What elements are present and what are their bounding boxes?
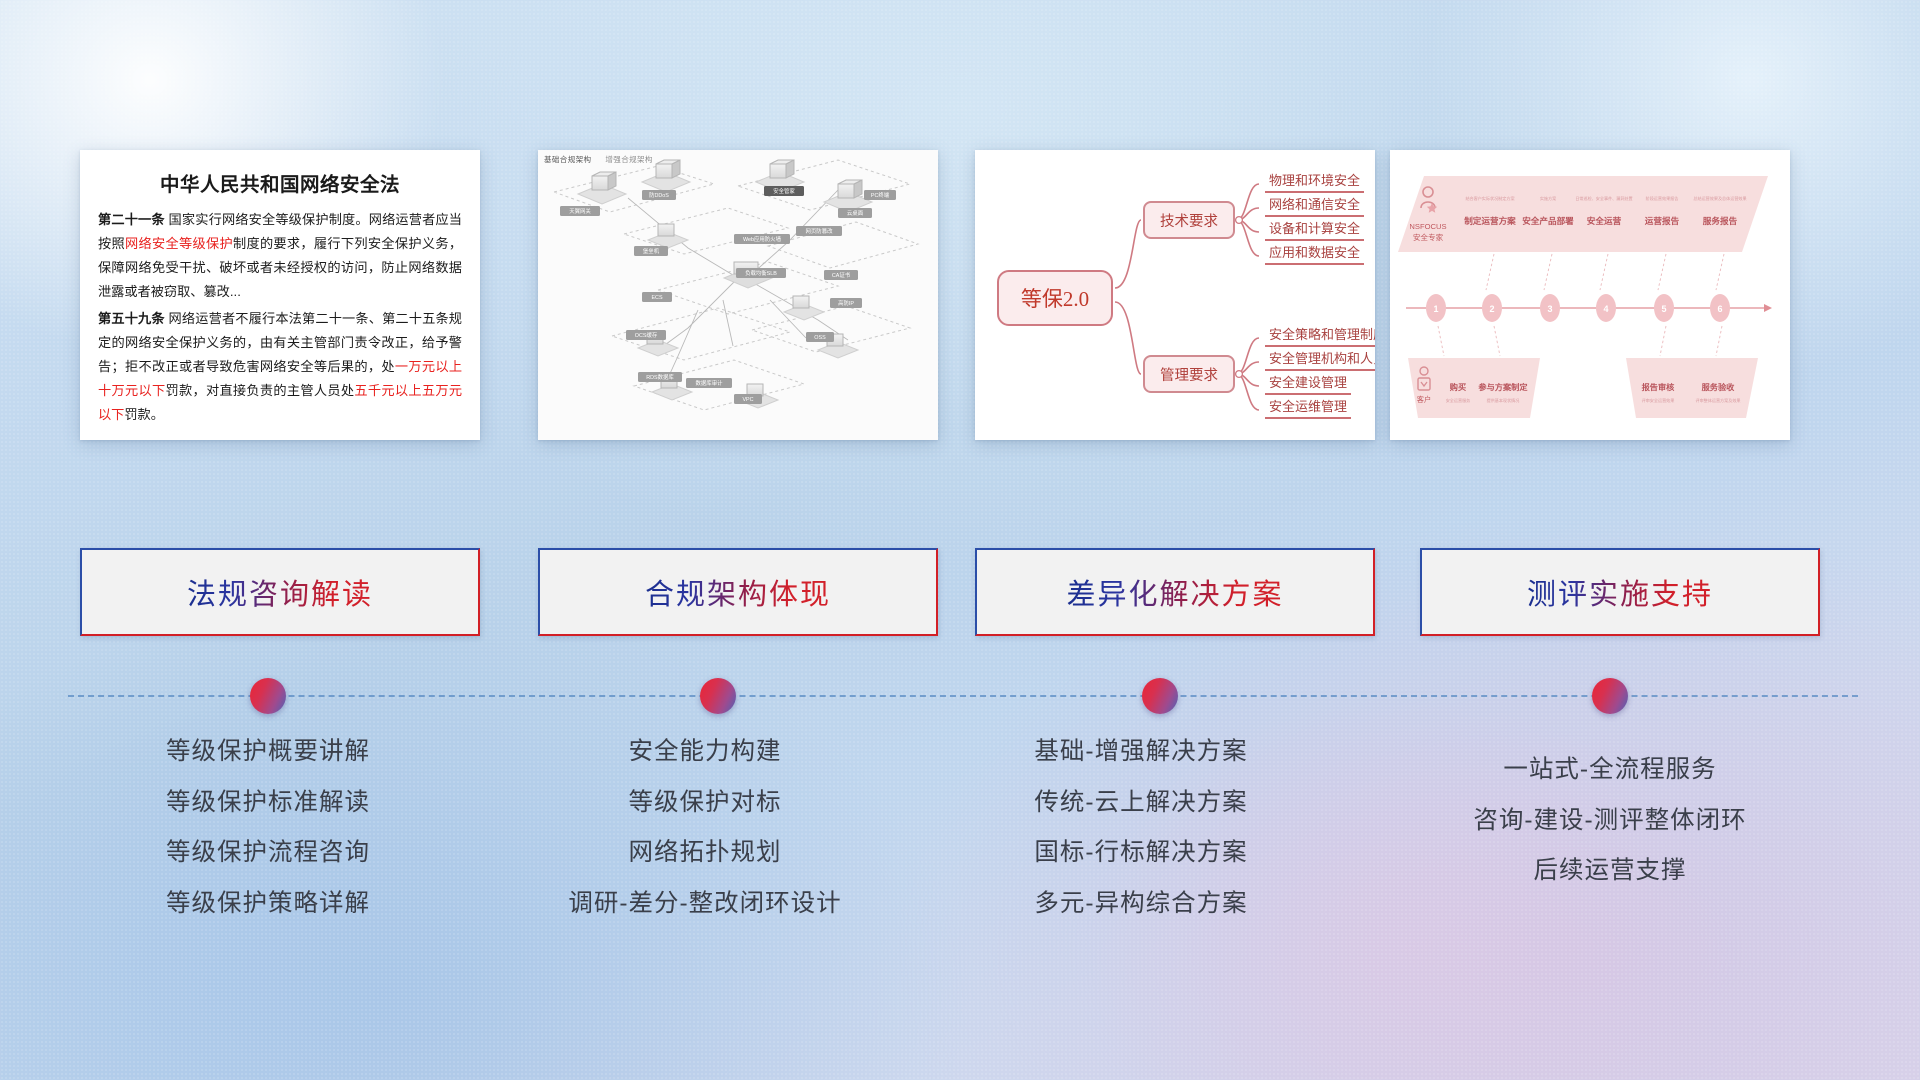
svg-text:数据库审计: 数据库审计 (696, 379, 724, 387)
svg-text:RDS数据库: RDS数据库 (646, 373, 674, 381)
svg-text:OCS缓存: OCS缓存 (635, 331, 658, 339)
label-text-1: 法规咨询解读 (187, 571, 373, 613)
card-service-flow[interactable]: NSFOCUS 安全专家 结合客户实际状况制定方案 实施方案 日常巡检、安全事件… (1390, 150, 1790, 440)
flow-top-sub-5: 总结运营效果及总体运营效果 (1693, 195, 1746, 201)
law-article-number-2: 第五十九条 (98, 311, 165, 326)
law-paragraph-2: 第五十九条 网络运营者不履行本法第二十一条、第二十五条规定的网络安全保护义务的，… (98, 307, 462, 427)
law-article-number-1: 第二十一条 (98, 212, 165, 227)
flow-top-sub-4: 阶段运营效果报告 (1646, 195, 1679, 201)
label-text-4: 测评实施支持 (1527, 571, 1713, 613)
timeline-dot-3[interactable] (1142, 678, 1178, 714)
detail-column-4: 一站式-全流程服务 咨询-建设-测评整体闭环 后续运营支撑 (1395, 758, 1825, 910)
svg-text:4: 4 (1603, 304, 1608, 314)
svg-text:负载均衡SLB: 负载均衡SLB (745, 269, 777, 277)
cards-row: 中华人民共和国网络安全法 第二十一条 国家实行网络安全等级保护制度。网络运营者应… (0, 150, 1920, 445)
svg-text:网页防篡改: 网页防篡改 (806, 227, 834, 235)
mindmap-root: 等保2.0 (997, 270, 1113, 326)
timeline-dashed-line (68, 695, 1858, 697)
mindmap-collapse-icon-tech (1236, 217, 1243, 224)
list-item: 等级保护标准解读 (53, 791, 483, 816)
list-item: 一站式-全流程服务 (1395, 758, 1825, 783)
service-flow-diagram: NSFOCUS 安全专家 结合客户实际状况制定方案 实施方案 日常巡检、安全事件… (1390, 150, 1790, 440)
mindmap-leaf-t1: 物理和环境安全 (1265, 170, 1364, 193)
flow-top-title-4: 运营报告 (1645, 215, 1680, 226)
list-item: 传统-云上解决方案 (926, 791, 1356, 816)
list-item: 网络拓扑规划 (490, 841, 920, 866)
label-box-regulation-consulting[interactable]: 法规咨询解读 (80, 548, 480, 636)
list-item: 基础-增强解决方案 (926, 740, 1356, 765)
law-title: 中华人民共和国网络安全法 (98, 168, 462, 197)
mindmap-leaf-t3: 设备和计算安全 (1265, 218, 1364, 241)
svg-text:2: 2 (1489, 304, 1494, 314)
flow-top-title-5: 服务报告 (1703, 215, 1738, 226)
detail-column-3: 基础-增强解决方案 传统-云上解决方案 国标-行标解决方案 多元-异构综合方案 (926, 740, 1356, 942)
list-item: 等级保护概要讲解 (53, 740, 483, 765)
mindmap-leaf-m4: 安全运维管理 (1265, 396, 1351, 419)
flow-top-title-2: 安全产品部署 (1522, 215, 1574, 226)
list-item: 等级保护流程咨询 (53, 841, 483, 866)
flow-bottom-right-title-1: 报告审核 (1642, 382, 1676, 392)
law-paragraph-1: 第二十一条 国家实行网络安全等级保护制度。网络运营者应当按照网络安全等级保护制度… (98, 208, 462, 304)
mindmap-leaf-t2: 网络和通信安全 (1265, 194, 1364, 217)
list-item: 后续运营支撑 (1395, 859, 1825, 884)
list-item: 调研-差分-整改闭环设计 (490, 892, 920, 917)
flow-bottom-left-title-2: 参与方案制定 (1478, 382, 1528, 392)
flow-bottom-left-sub-1: 安全运营服务 (1446, 397, 1471, 403)
svg-text:堡垒机: 堡垒机 (643, 247, 660, 255)
label-text-2: 合规架构体现 (645, 571, 831, 613)
architecture-diagram: 基础合规架构增强合规架构 (538, 150, 938, 440)
mindmap-branch-technical: 技术要求 (1143, 201, 1235, 239)
mindmap: 等保2.0 技术要求 管理要求 物理和环境安全 网络和通信安全 设备和计算安全 … (975, 150, 1375, 440)
label-box-compliance-architecture[interactable]: 合规架构体现 (538, 548, 938, 636)
list-item: 国标-行标解决方案 (926, 841, 1356, 866)
customer-role-label: 客户 (1417, 395, 1431, 404)
timeline-dot-1[interactable] (250, 678, 286, 714)
mindmap-leaf-m1: 安全策略和管理制度 (1265, 324, 1375, 347)
detail-column-1: 等级保护概要讲解 等级保护标准解读 等级保护流程咨询 等级保护策略详解 (53, 740, 483, 942)
flow-top-title-3: 安全运营 (1587, 215, 1622, 226)
list-item: 安全能力构建 (490, 740, 920, 765)
flow-bottom-right-sub-1: 评审安全运营效果 (1642, 397, 1675, 403)
label-row: 法规咨询解读 合规架构体现 差异化解决方案 测评实施支持 (0, 548, 1920, 640)
mindmap-leaf-t4: 应用和数据安全 (1265, 242, 1364, 265)
flow-top-sub-3: 日常巡检、安全事件、漏洞处置 (1575, 195, 1632, 201)
svg-text:6: 6 (1717, 304, 1722, 314)
timeline (0, 660, 1920, 720)
flow-bottom-left-sub-2: 提供基本现状情况 (1487, 397, 1520, 403)
svg-text:天翼网关: 天翼网关 (569, 207, 591, 215)
law-run-1-1: 网络安全等级保护 (125, 236, 233, 251)
card-law[interactable]: 中华人民共和国网络安全法 第二十一条 国家实行网络安全等级保护制度。网络运营者应… (80, 150, 480, 440)
mindmap-leaf-m3: 安全建设管理 (1265, 372, 1351, 395)
flow-bottom-left-title-1: 购买 (1449, 382, 1466, 392)
mindmap-collapse-icon-mgmt (1236, 371, 1243, 378)
flow-axis-arrow-icon (1764, 304, 1772, 312)
svg-text:防DDoS: 防DDoS (649, 191, 669, 199)
law-body: 中华人民共和国网络安全法 第二十一条 国家实行网络安全等级保护制度。网络运营者应… (80, 150, 480, 437)
list-item: 等级保护对标 (490, 791, 920, 816)
svg-text:PC终端: PC终端 (871, 191, 890, 199)
svg-text:5: 5 (1661, 304, 1666, 314)
nsfocus-role-label: 安全专家 (1413, 232, 1444, 242)
flow-top-sub-2: 实施方案 (1540, 195, 1556, 201)
timeline-dot-2[interactable] (700, 678, 736, 714)
card-architecture[interactable]: 基础合规架构增强合规架构 (538, 150, 938, 440)
mindmap-branch-management: 管理要求 (1143, 355, 1235, 393)
service-flow-svg: NSFOCUS 安全专家 结合客户实际状况制定方案 实施方案 日常巡检、安全事件… (1390, 150, 1790, 440)
architecture-svg: 天翼网关 防DDoS 安全管家 云桌面 堡垒机 网页防篡改 Web应用防火墙 负… (538, 150, 938, 440)
timeline-dot-4[interactable] (1592, 678, 1628, 714)
svg-text:3: 3 (1547, 304, 1552, 314)
label-box-differentiated-solution[interactable]: 差异化解决方案 (975, 548, 1375, 636)
svg-text:安全管家: 安全管家 (773, 187, 795, 195)
svg-text:OSS: OSS (814, 335, 826, 341)
flow-top-band (1398, 176, 1768, 252)
svg-text:CA证书: CA证书 (832, 271, 851, 279)
nsfocus-brand-label: NSFOCUS (1409, 222, 1446, 231)
list-item: 咨询-建设-测评整体闭环 (1395, 809, 1825, 834)
flow-bottom-right-title-2: 服务验收 (1702, 382, 1736, 392)
card-mindmap[interactable]: 等保2.0 技术要求 管理要求 物理和环境安全 网络和通信安全 设备和计算安全 … (975, 150, 1375, 440)
svg-text:1: 1 (1433, 304, 1438, 314)
flow-top-sub-1: 结合客户实际状况制定方案 (1465, 195, 1514, 201)
list-item: 等级保护策略详解 (53, 892, 483, 917)
law-run-2-4: 罚款。 (124, 407, 164, 422)
list-item: 多元-异构综合方案 (926, 892, 1356, 917)
detail-column-2: 安全能力构建 等级保护对标 网络拓扑规划 调研-差分-整改闭环设计 (490, 740, 920, 942)
law-run-2-2: 罚款，对直接负责的主管人员处 (165, 383, 354, 398)
detail-lists: 等级保护概要讲解 等级保护标准解读 等级保护流程咨询 等级保护策略详解 安全能力… (0, 740, 1920, 990)
svg-text:ECS: ECS (651, 295, 662, 301)
svg-text:Web应用防火墙: Web应用防火墙 (743, 235, 782, 243)
label-text-3: 差异化解决方案 (1066, 571, 1283, 613)
label-box-assessment-support[interactable]: 测评实施支持 (1420, 548, 1820, 636)
mindmap-leaf-m2: 安全管理机构和人员 (1265, 348, 1375, 371)
flow-bottom-right-sub-2: 评审整体运营方案及效果 (1695, 397, 1740, 403)
svg-text:云桌面: 云桌面 (847, 209, 864, 217)
flow-top-title-1: 制定运营方案 (1464, 215, 1516, 226)
svg-text:VPC: VPC (742, 397, 753, 403)
svg-text:高防IP: 高防IP (838, 299, 854, 307)
